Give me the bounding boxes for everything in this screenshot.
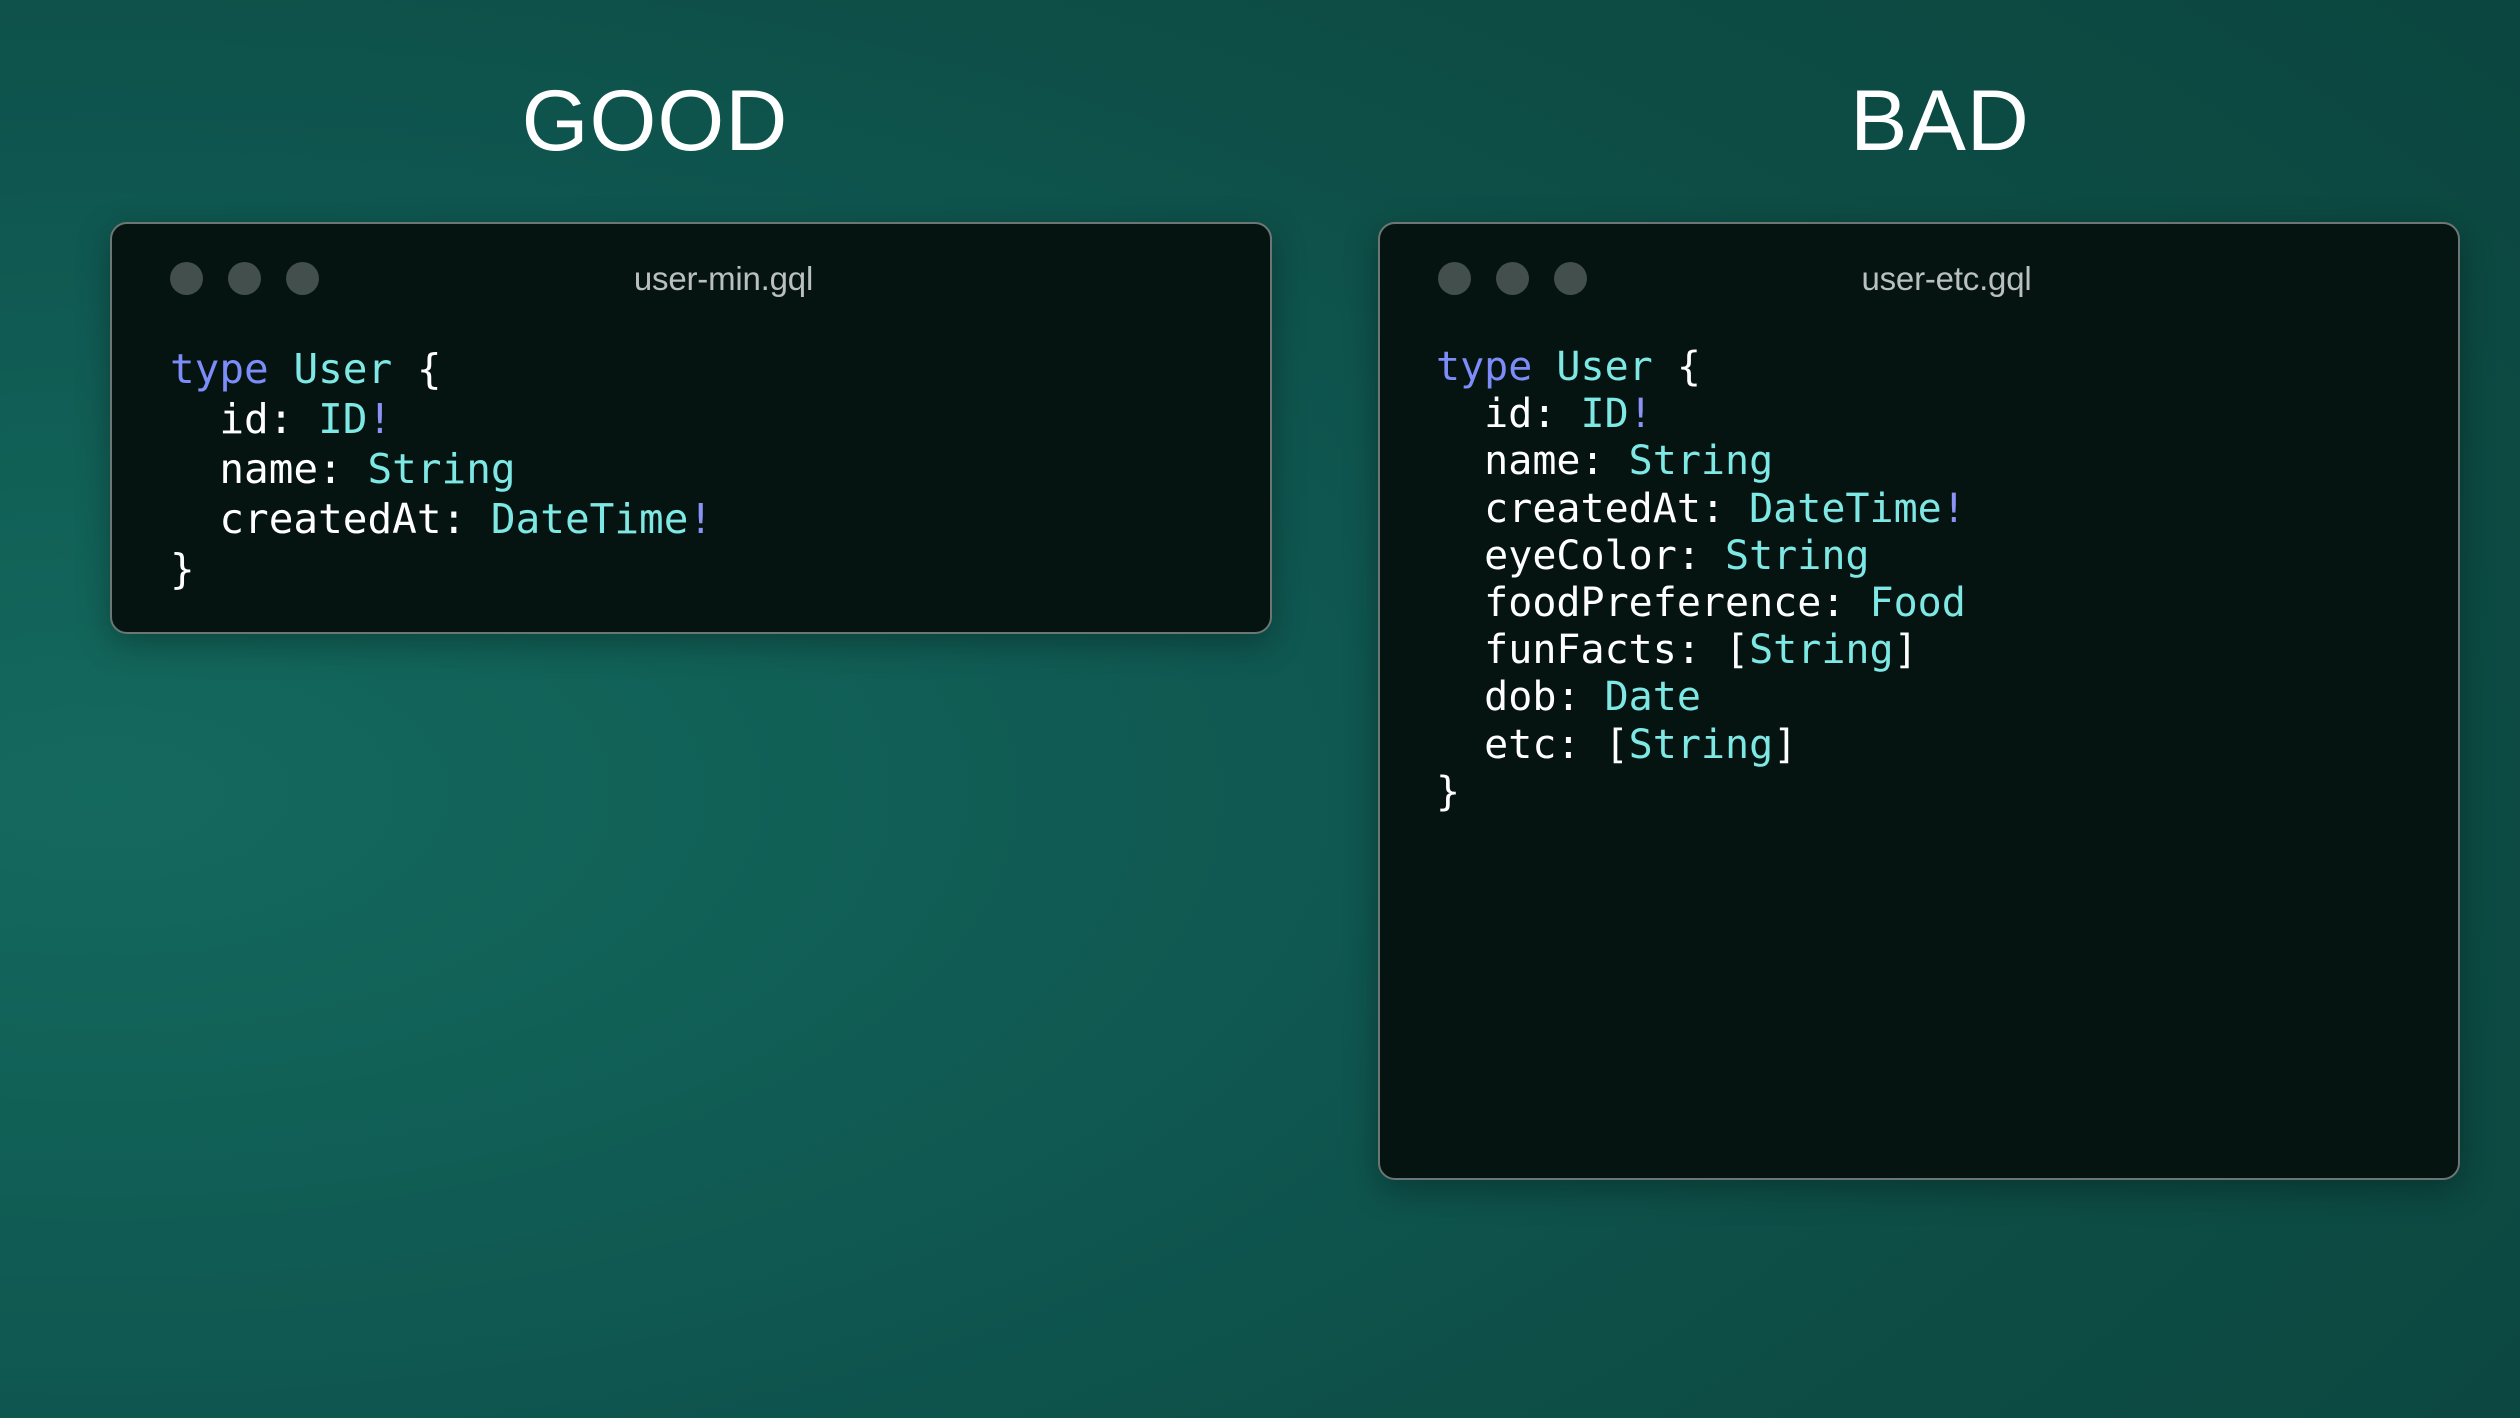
code-line: name: String (170, 444, 1270, 494)
code-token: ! (688, 495, 713, 543)
code-token: String (1749, 627, 1894, 673)
code-window-bad: user-etc.gql type User { id: ID! name: S… (1378, 222, 2460, 1180)
page-title-bad: BAD (1500, 78, 2380, 164)
window-titlebar-good: user-min.gql (112, 224, 1270, 320)
code-block-good: type User { id: ID! name: String created… (112, 320, 1270, 594)
code-token: } (1436, 769, 1460, 815)
code-token: Date (1605, 674, 1701, 720)
code-line: eyeColor: String (1436, 533, 2458, 580)
code-token: type (1436, 344, 1532, 390)
code-line: etc: [String] (1436, 722, 2458, 769)
code-token: ID (1581, 391, 1629, 437)
code-token: foodPreference: (1436, 580, 1869, 626)
code-token: dob: (1436, 674, 1605, 720)
code-token: ! (1629, 391, 1653, 437)
code-line: name: String (1436, 438, 2458, 485)
code-token: name: (170, 445, 367, 493)
code-token: funFacts: [ (1436, 627, 1749, 673)
code-token: createdAt: (1436, 486, 1749, 532)
code-token (269, 345, 294, 393)
code-token: String (1629, 438, 1774, 484)
code-token: Food (1869, 580, 1965, 626)
code-token: User (293, 345, 392, 393)
code-token: String (367, 445, 515, 493)
code-line: dob: Date (1436, 674, 2458, 721)
code-token: String (1629, 722, 1774, 768)
code-token (1532, 344, 1556, 390)
code-token: name: (1436, 438, 1629, 484)
window-filename-bad: user-etc.gql (1380, 260, 2458, 298)
code-line: type User { (1436, 344, 2458, 391)
code-token: DateTime (491, 495, 688, 543)
code-token: { (1653, 344, 1701, 390)
code-token: { (392, 345, 441, 393)
code-window-good: user-min.gql type User { id: ID! name: S… (110, 222, 1272, 634)
page-title-good: GOOD (330, 78, 980, 164)
code-token: type (170, 345, 269, 393)
code-line: } (170, 544, 1270, 594)
code-token: ! (1942, 486, 1966, 532)
window-filename-good: user-min.gql (112, 260, 1270, 298)
code-token: id: (1436, 391, 1581, 437)
code-token: User (1556, 344, 1652, 390)
code-line: createdAt: DateTime! (1436, 486, 2458, 533)
code-token: id: (170, 395, 318, 443)
code-line: id: ID! (170, 394, 1270, 444)
code-token: ID (318, 395, 367, 443)
code-token: ! (367, 395, 392, 443)
code-token: etc: [ (1436, 722, 1629, 768)
window-titlebar-bad: user-etc.gql (1380, 224, 2458, 320)
code-token: eyeColor: (1436, 533, 1725, 579)
comparison-slide: GOOD BAD user-min.gql type User { id: ID… (0, 0, 2520, 1418)
code-line: createdAt: DateTime! (170, 494, 1270, 544)
code-line: type User { (170, 344, 1270, 394)
code-line: foodPreference: Food (1436, 580, 2458, 627)
code-token: DateTime (1749, 486, 1942, 532)
code-block-bad: type User { id: ID! name: String created… (1380, 320, 2458, 816)
code-token: String (1725, 533, 1870, 579)
code-token: } (170, 545, 195, 593)
code-token: ] (1894, 627, 1918, 673)
code-line: id: ID! (1436, 391, 2458, 438)
code-token: ] (1773, 722, 1797, 768)
code-line: } (1436, 769, 2458, 816)
code-line: funFacts: [String] (1436, 627, 2458, 674)
code-token: createdAt: (170, 495, 491, 543)
